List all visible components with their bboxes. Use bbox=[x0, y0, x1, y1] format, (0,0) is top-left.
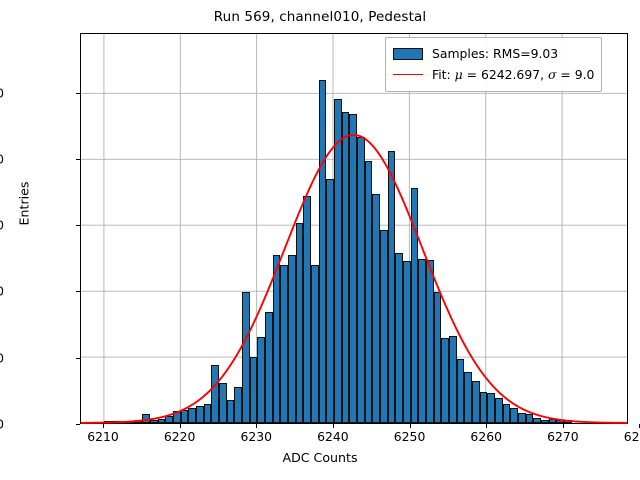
y-tick-mark bbox=[76, 93, 80, 94]
y-tick-mark bbox=[76, 424, 80, 425]
legend-label-samples: Samples: RMS=9.03 bbox=[432, 46, 558, 61]
x-tick-label: 6220 bbox=[164, 429, 196, 444]
x-tick-label: 6260 bbox=[470, 429, 502, 444]
x-tick-mark bbox=[103, 424, 104, 428]
x-tick-mark bbox=[180, 424, 181, 428]
y-axis-label: Entries bbox=[17, 104, 32, 304]
legend-label-fit: Fit: μ = 6242.697, σ = 9.0 bbox=[432, 67, 594, 82]
y-tick-label: 200 bbox=[0, 284, 4, 299]
legend-patch-icon bbox=[393, 48, 423, 60]
y-tick-label: 500 bbox=[0, 85, 4, 100]
x-tick-mark bbox=[333, 424, 334, 428]
y-tick-label: 0 bbox=[0, 417, 4, 432]
x-axis-label: ADC Counts bbox=[0, 450, 640, 465]
y-tick-mark bbox=[76, 159, 80, 160]
legend-fit-mu-value: = 6242.697, bbox=[463, 67, 548, 82]
y-tick-mark bbox=[76, 358, 80, 359]
x-tick-mark bbox=[256, 424, 257, 428]
legend-fit-sigma-value: = 9.0 bbox=[556, 67, 594, 82]
legend-item-samples: Samples: RMS=9.03 bbox=[393, 43, 594, 64]
y-tick-label: 300 bbox=[0, 218, 4, 233]
x-tick-label: 6240 bbox=[317, 429, 349, 444]
x-tick-mark bbox=[410, 424, 411, 428]
x-tick-label: 6250 bbox=[394, 429, 426, 444]
y-tick-label: 100 bbox=[0, 350, 4, 365]
x-tick-mark bbox=[563, 424, 564, 428]
x-tick-label: 6210 bbox=[87, 429, 119, 444]
legend-fit-prefix: Fit: bbox=[432, 67, 455, 82]
x-tick-mark bbox=[486, 424, 487, 428]
legend-fit-mu-symbol: μ bbox=[455, 67, 463, 82]
x-tick-label: 6270 bbox=[547, 429, 579, 444]
y-tick-mark bbox=[76, 225, 80, 226]
legend-item-fit: Fit: μ = 6242.697, σ = 9.0 bbox=[393, 64, 594, 85]
x-tick-label: 6280 bbox=[624, 429, 640, 444]
y-tick-mark bbox=[76, 291, 80, 292]
x-tick-label: 6230 bbox=[240, 429, 272, 444]
legend-line-icon bbox=[393, 74, 423, 75]
page-title: Run 569, channel010, Pedestal bbox=[0, 9, 640, 25]
figure-canvas: Run 569, channel010, Pedestal 0100200300… bbox=[0, 0, 640, 480]
legend: Samples: RMS=9.03 Fit: μ = 6242.697, σ =… bbox=[385, 37, 602, 92]
gaussian-fit-curve bbox=[81, 34, 627, 423]
y-tick-label: 400 bbox=[0, 151, 4, 166]
